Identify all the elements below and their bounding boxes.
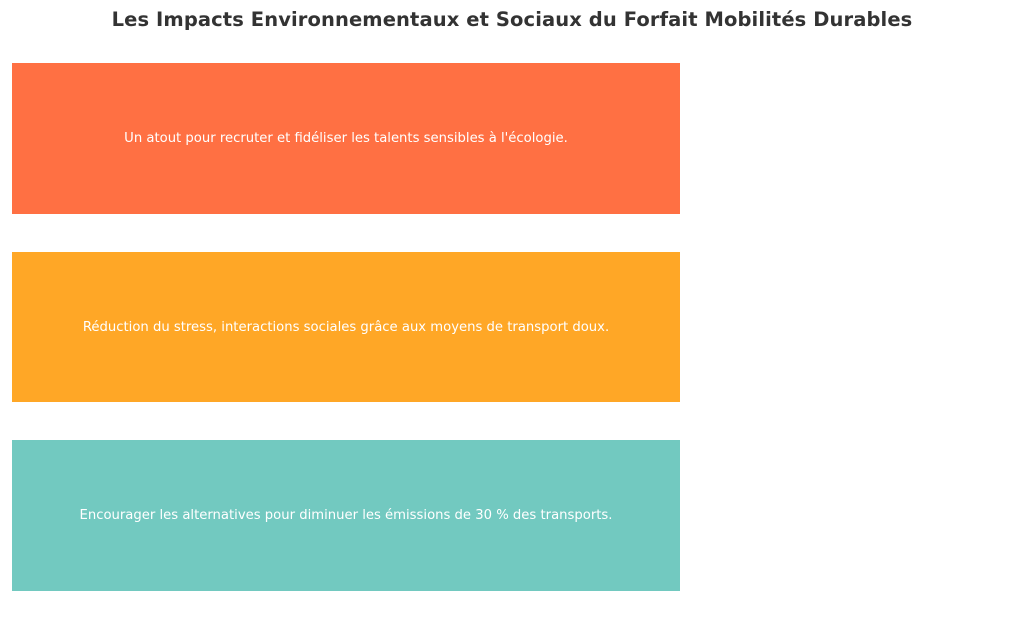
bar-item[interactable]: Réduction du stress, interactions social… [12, 252, 680, 402]
figure-canvas: Les Impacts Environnementaux et Sociaux … [0, 0, 1024, 628]
plot-area: Un atout pour recruter et fidéliser les … [0, 0, 1024, 628]
bar-label: Réduction du stress, interactions social… [12, 252, 680, 402]
bar-item[interactable]: Encourager les alternatives pour diminue… [12, 440, 680, 591]
bar-label: Un atout pour recruter et fidéliser les … [12, 63, 680, 214]
bar-item[interactable]: Un atout pour recruter et fidéliser les … [12, 63, 680, 214]
bar-label: Encourager les alternatives pour diminue… [12, 440, 680, 591]
